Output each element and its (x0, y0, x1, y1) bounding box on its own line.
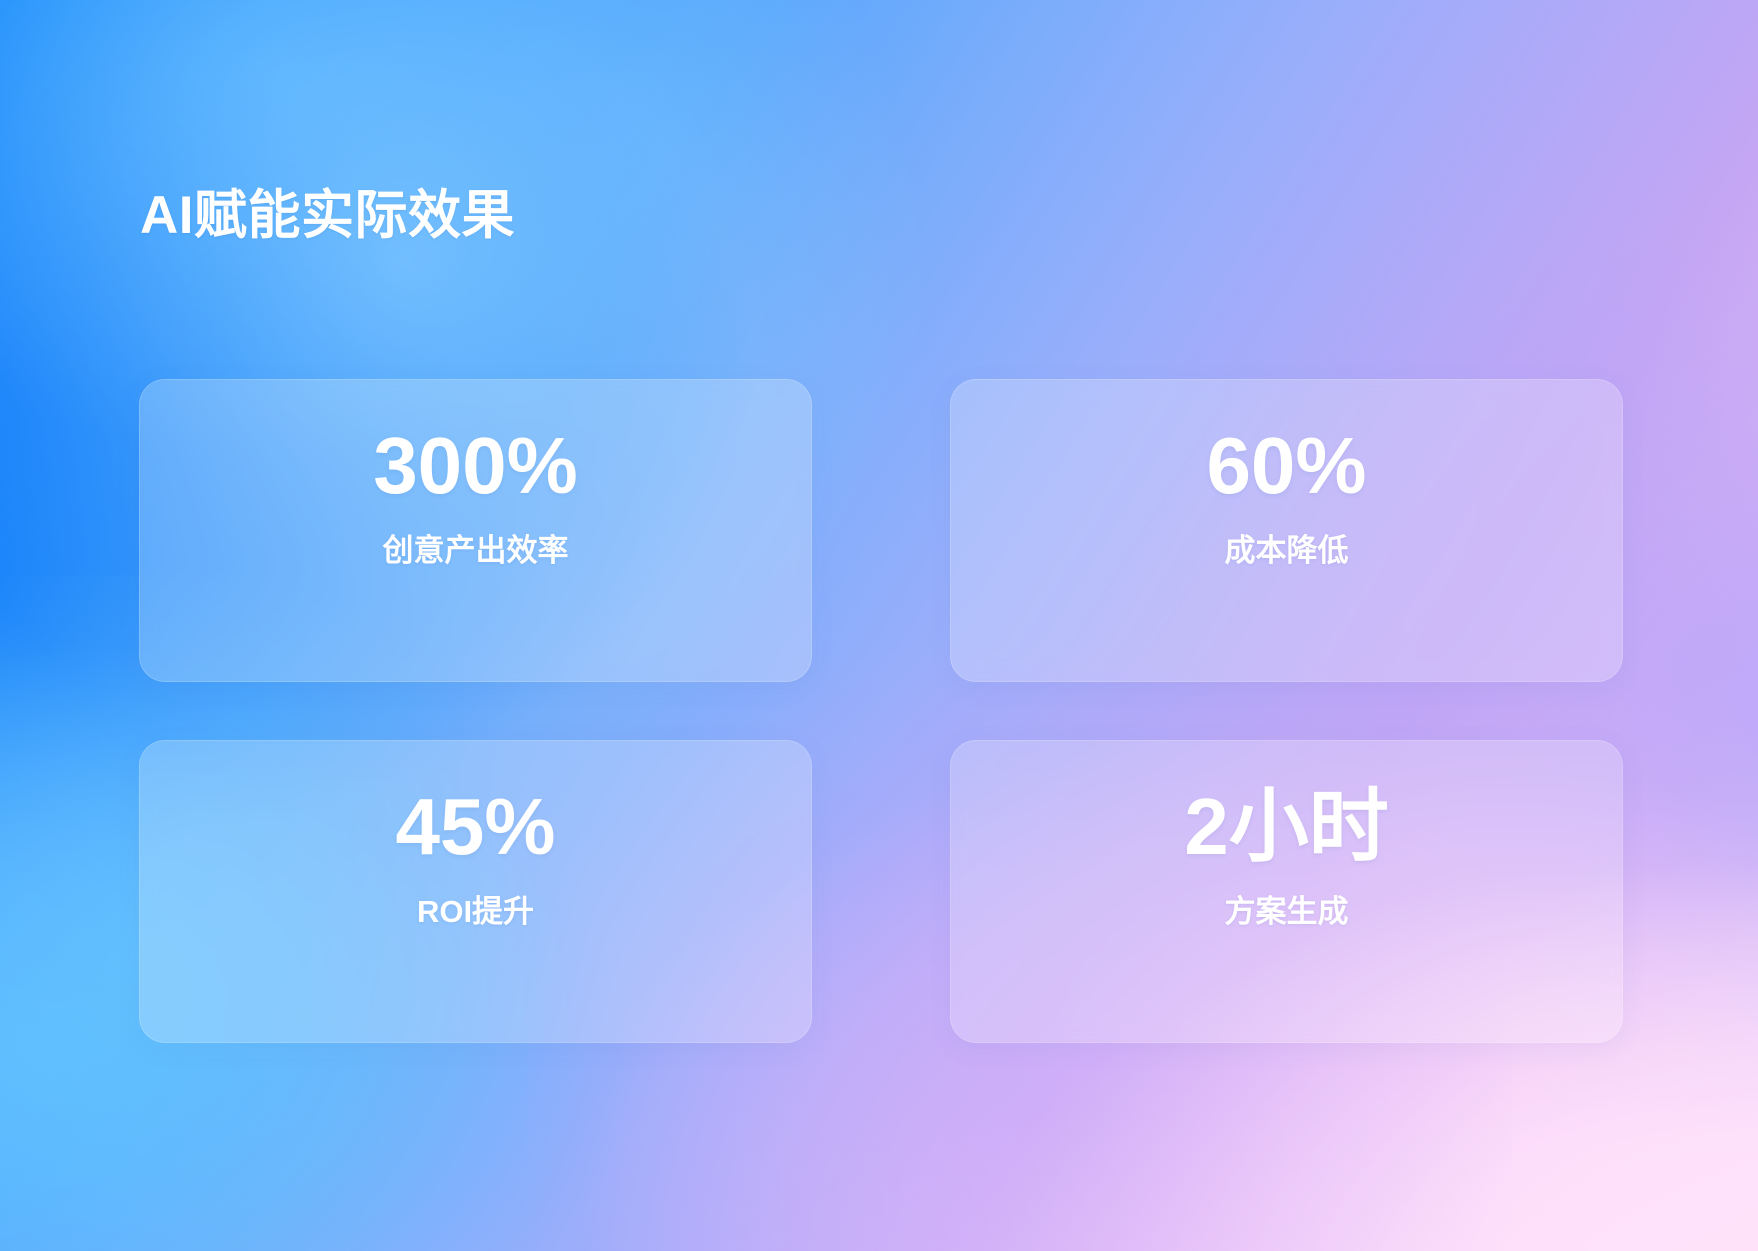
stat-card-plan-generation[interactable]: 2小时 方案生成 (950, 740, 1623, 1043)
stat-label: ROI提升 (417, 893, 534, 930)
stat-value: 300% (373, 422, 578, 510)
stat-card-roi-increase[interactable]: 45% ROI提升 (139, 740, 812, 1043)
page-title: AI赋能实际效果 (140, 187, 515, 245)
stat-value: 45% (395, 783, 555, 871)
stat-label: 成本降低 (1225, 532, 1349, 569)
stats-grid: 300% 创意产出效率 60% 成本降低 45% ROI提升 2小时 方案生成 (139, 379, 1623, 1043)
stat-label: 方案生成 (1225, 893, 1349, 930)
stat-card-creative-output[interactable]: 300% 创意产出效率 (139, 379, 812, 682)
stat-value: 2小时 (1184, 783, 1389, 871)
stat-card-cost-reduction[interactable]: 60% 成本降低 (950, 379, 1623, 682)
stat-value: 60% (1206, 422, 1366, 510)
slide-content: AI赋能实际效果 300% 创意产出效率 60% 成本降低 45% ROI提升 … (0, 0, 1758, 1251)
slide-canvas: AI赋能实际效果 300% 创意产出效率 60% 成本降低 45% ROI提升 … (0, 0, 1758, 1251)
stat-label: 创意产出效率 (383, 532, 569, 569)
